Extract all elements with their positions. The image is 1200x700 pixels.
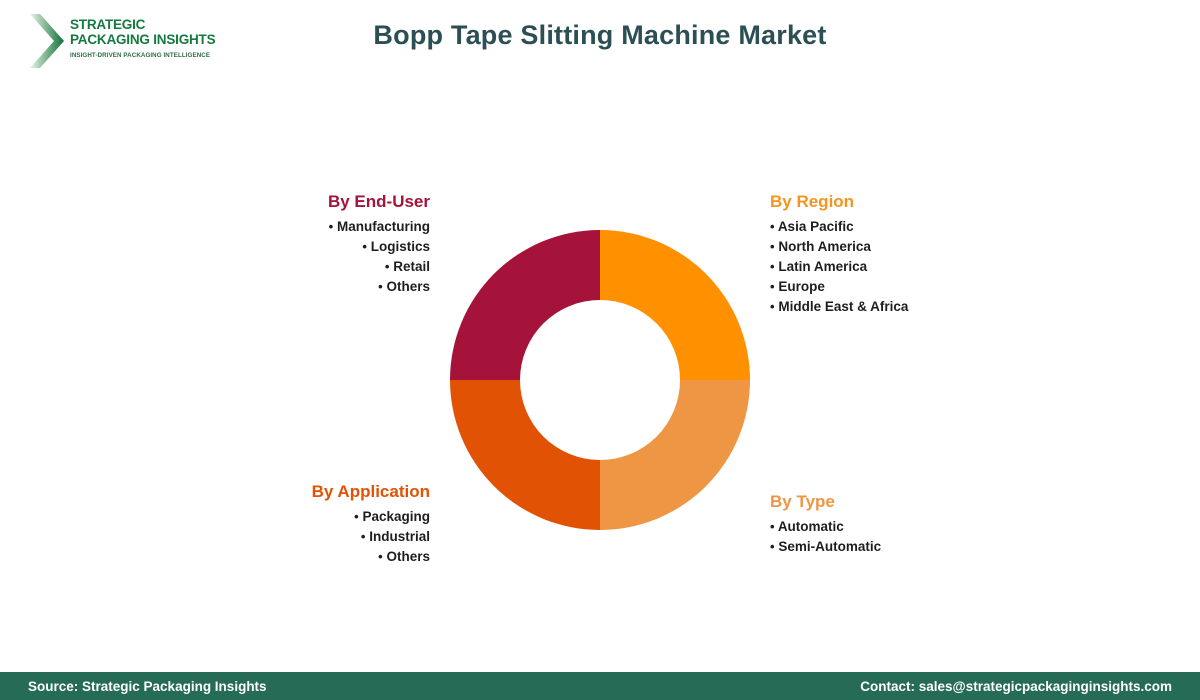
- bullet-icon: •: [378, 549, 383, 564]
- list-item: • Middle East & Africa: [770, 297, 1050, 317]
- list-item: • Automatic: [770, 517, 1050, 537]
- list-item: • Asia Pacific: [770, 217, 1050, 237]
- list-item-label: Latin America: [778, 259, 867, 274]
- page-title: Bopp Tape Slitting Machine Market: [0, 20, 1200, 51]
- list-item: • Logistics: [190, 237, 430, 257]
- footer-bar: Source: Strategic Packaging Insights Con…: [0, 672, 1200, 700]
- bullet-icon: •: [770, 519, 775, 534]
- bullet-icon: •: [770, 219, 775, 234]
- segment-list-region: • Asia Pacific • North America • Latin A…: [770, 217, 1050, 317]
- list-item-label: Packaging: [362, 509, 430, 524]
- donut-chart: [450, 230, 750, 530]
- segment-title-application: By Application: [190, 482, 430, 502]
- list-item: • Latin America: [770, 257, 1050, 277]
- logo-tagline: INSIGHT-DRIVEN PACKAGING INTELLIGENCE: [70, 52, 215, 59]
- list-item: • Industrial: [190, 527, 430, 547]
- segment-list-type: • Automatic • Semi-Automatic: [770, 517, 1050, 557]
- segment-list-end-user: • Manufacturing • Logistics • Retail • O…: [190, 217, 430, 297]
- segment-title-end-user: By End-User: [190, 192, 430, 212]
- footer-contact: Contact: sales@strategicpackaginginsight…: [860, 679, 1172, 694]
- bullet-icon: •: [385, 259, 390, 274]
- list-item: • North America: [770, 237, 1050, 257]
- list-item: • Retail: [190, 257, 430, 277]
- list-item-label: Others: [386, 549, 430, 564]
- bullet-icon: •: [378, 279, 383, 294]
- segment-block-application: By Application • Packaging • Industrial …: [190, 482, 430, 567]
- bullet-icon: •: [770, 239, 775, 254]
- bullet-icon: •: [362, 239, 367, 254]
- bullet-icon: •: [329, 219, 334, 234]
- list-item: • Manufacturing: [190, 217, 430, 237]
- list-item: • Others: [190, 277, 430, 297]
- list-item: • Packaging: [190, 507, 430, 527]
- list-item: • Semi-Automatic: [770, 537, 1050, 557]
- donut-chart-svg: [450, 230, 750, 530]
- list-item-label: Others: [386, 279, 430, 294]
- list-item-label: Middle East & Africa: [778, 299, 908, 314]
- list-item-label: Retail: [393, 259, 430, 274]
- donut-center-hole: [520, 300, 680, 460]
- segment-title-type: By Type: [770, 492, 1050, 512]
- segment-block-type: By Type • Automatic • Semi-Automatic: [770, 492, 1050, 557]
- bullet-icon: •: [770, 299, 775, 314]
- list-item-label: Industrial: [369, 529, 430, 544]
- segment-title-region: By Region: [770, 192, 1050, 212]
- list-item-label: Asia Pacific: [778, 219, 854, 234]
- list-item-label: Logistics: [371, 239, 430, 254]
- footer-source: Source: Strategic Packaging Insights: [28, 679, 267, 694]
- list-item: • Others: [190, 547, 430, 567]
- segment-block-region: By Region • Asia Pacific • North America…: [770, 192, 1050, 317]
- bullet-icon: •: [770, 259, 775, 274]
- list-item-label: North America: [778, 239, 871, 254]
- segment-block-end-user: By End-User • Manufacturing • Logistics …: [190, 192, 430, 297]
- list-item-label: Semi-Automatic: [778, 539, 881, 554]
- bullet-icon: •: [770, 279, 775, 294]
- list-item-label: Automatic: [778, 519, 844, 534]
- bullet-icon: •: [770, 539, 775, 554]
- list-item-label: Europe: [778, 279, 825, 294]
- list-item-label: Manufacturing: [337, 219, 430, 234]
- bullet-icon: •: [354, 509, 359, 524]
- segment-list-application: • Packaging • Industrial • Others: [190, 507, 430, 567]
- bullet-icon: •: [361, 529, 366, 544]
- list-item: • Europe: [770, 277, 1050, 297]
